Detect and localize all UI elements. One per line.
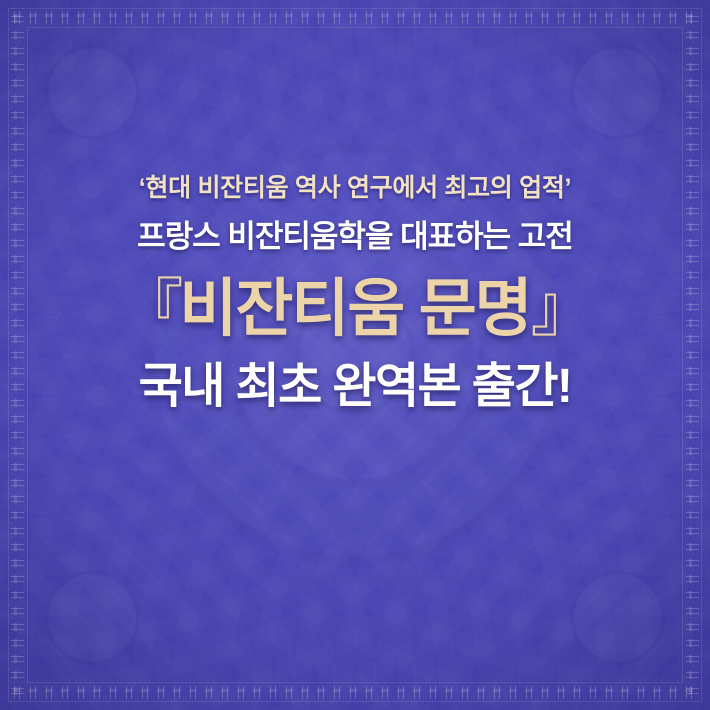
subtitle-tagline: 프랑스 비잔티움학을 대표하는 고전 <box>0 221 710 252</box>
open-bracket-glyph: 『 <box>120 274 179 344</box>
border-motif-bottom-icon <box>10 686 700 699</box>
release-announcement: 국내 최초 완역본 출간! <box>0 363 710 411</box>
close-bracket-glyph: 』 <box>531 274 590 344</box>
endorsement-quote: ‘현대 비잔티움 역사 연구에서 최고의 업적’ <box>0 176 710 201</box>
book-title-text: 비잔티움 문명 <box>179 274 530 344</box>
book-title: 『비잔티움 문명』 <box>0 278 710 341</box>
border-motif-top-icon <box>10 11 700 24</box>
promo-card: ‘현대 비잔티움 역사 연구에서 최고의 업적’ 프랑스 비잔티움학을 대표하는… <box>0 0 710 710</box>
headline-text-block: ‘현대 비잔티움 역사 연구에서 최고의 업적’ 프랑스 비잔티움학을 대표하는… <box>0 176 710 411</box>
